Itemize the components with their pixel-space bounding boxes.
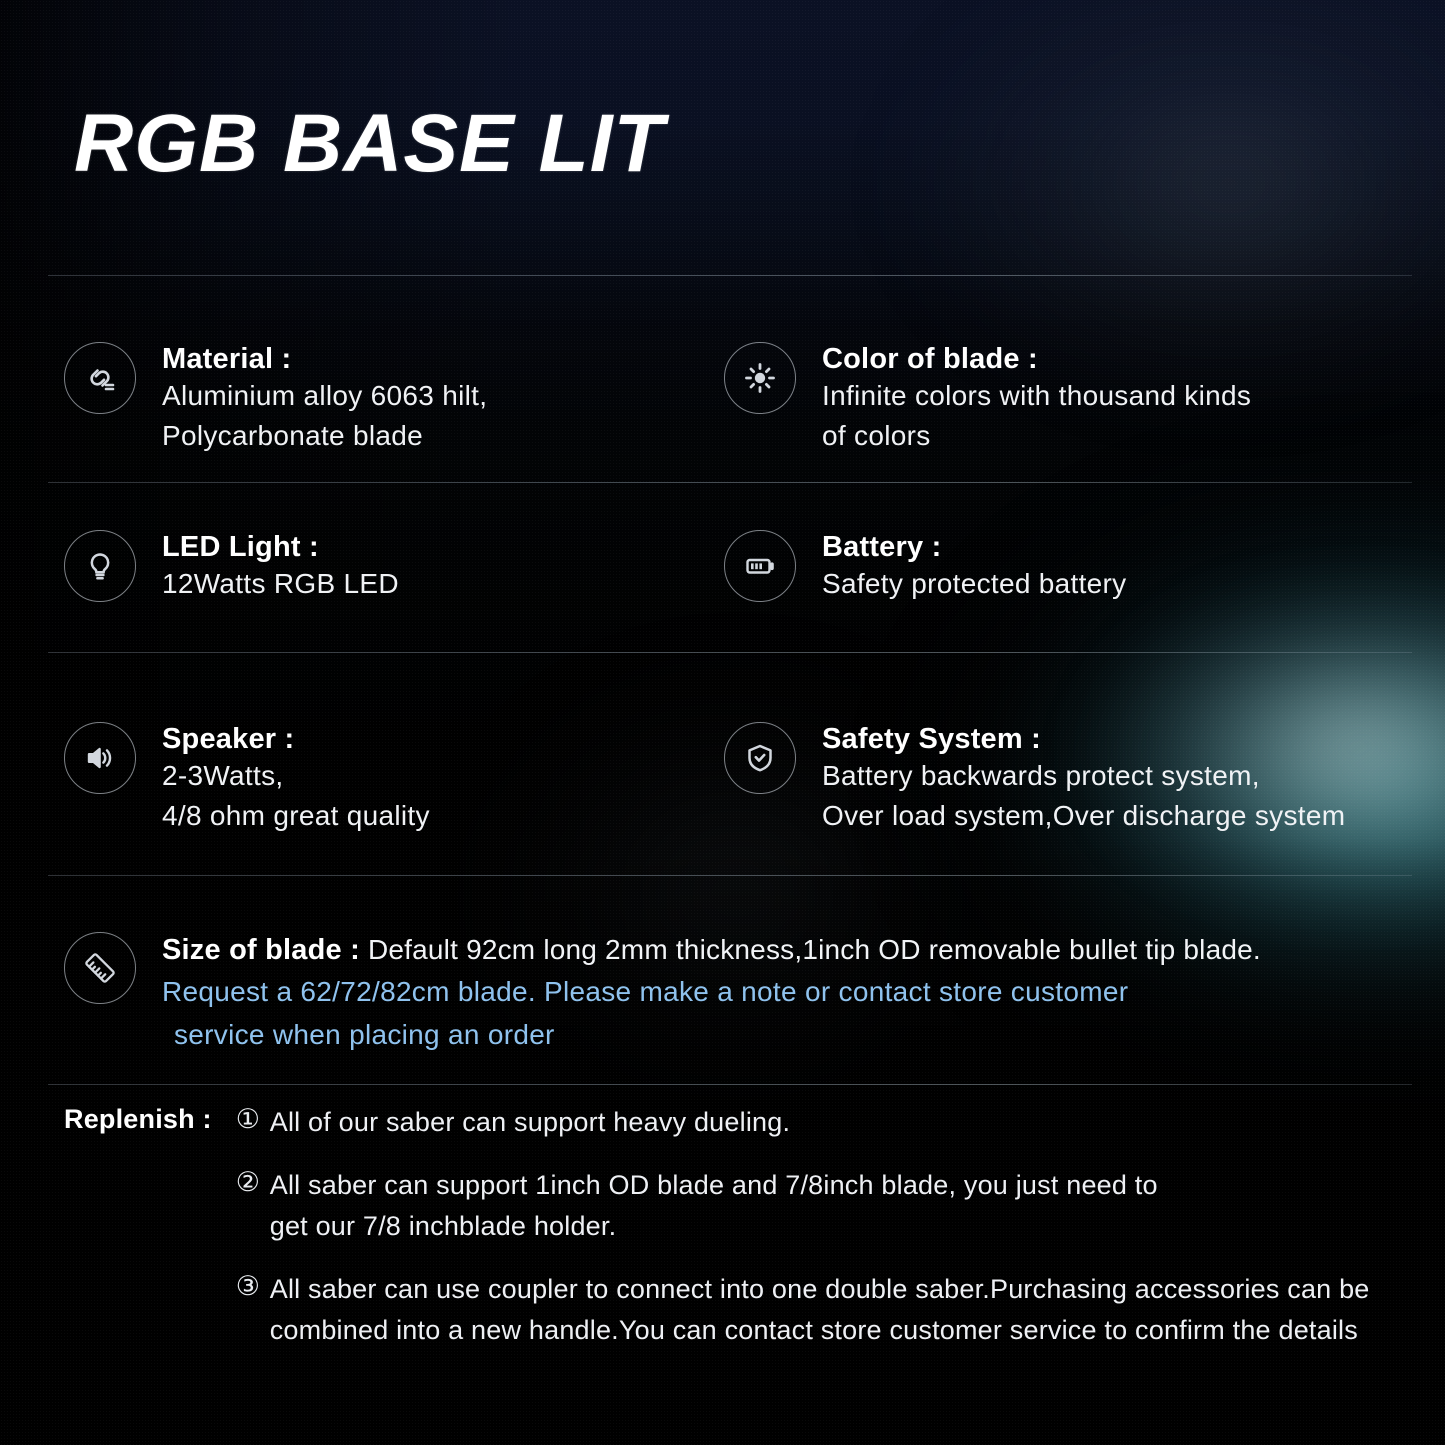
- list-item-line: All of our saber can support heavy dueli…: [270, 1102, 790, 1143]
- replenish-row: Replenish : ① All of our saber can suppo…: [64, 1102, 1424, 1351]
- list-item-body: All of our saber can support heavy dueli…: [270, 1102, 790, 1143]
- spec-item-material: Material : Aluminium alloy 6063 hilt, Po…: [64, 342, 487, 456]
- spec-value-line: Aluminium alloy 6063 hilt,: [162, 376, 487, 416]
- list-item-number: ③: [236, 1269, 270, 1304]
- size-of-blade-label: Size of blade :: [162, 934, 360, 966]
- spec-label: Speaker :: [162, 722, 430, 756]
- spec-body: Battery : Safety protected battery: [796, 530, 1126, 604]
- list-item-line: All saber can support 1inch OD blade and…: [270, 1165, 1158, 1206]
- spec-item-color-of-blade: Color of blade : Infinite colors with th…: [724, 342, 1251, 456]
- list-item-line: All saber can use coupler to connect int…: [270, 1269, 1370, 1310]
- spec-value-line: 12Watts RGB LED: [162, 564, 399, 604]
- content-layer: RGB BASE LIT Material : Aluminium alloy …: [0, 0, 1445, 1445]
- list-item-number: ①: [236, 1102, 270, 1137]
- replenish-section: Replenish : ① All of our saber can suppo…: [64, 1102, 1424, 1351]
- replenish-label: Replenish :: [64, 1102, 212, 1135]
- lightbulb-icon: [64, 530, 136, 602]
- battery-icon: [724, 530, 796, 602]
- spec-label: Safety System :: [822, 722, 1345, 756]
- spec-value-line: Battery backwards protect system,: [822, 756, 1345, 796]
- list-item-body: All saber can use coupler to connect int…: [270, 1269, 1370, 1351]
- spec-item-safety-system: Safety System : Battery backwards protec…: [724, 722, 1345, 836]
- spec-item-speaker: Speaker : 2-3Watts, 4/8 ohm great qualit…: [64, 722, 430, 836]
- list-item-line: get our 7/8 inchblade holder.: [270, 1206, 1158, 1247]
- list-item: ② All saber can support 1inch OD blade a…: [236, 1165, 1370, 1247]
- divider-3: [48, 652, 1412, 653]
- spec-label: Battery :: [822, 530, 1126, 564]
- spec-value-line: Over load system,Over discharge system: [822, 796, 1345, 836]
- divider-5: [48, 1084, 1412, 1085]
- spec-body: LED Light : 12Watts RGB LED: [136, 530, 399, 604]
- brightness-sun-icon: [724, 342, 796, 414]
- divider-4: [48, 875, 1412, 876]
- spec-body: Material : Aluminium alloy 6063 hilt, Po…: [136, 342, 487, 456]
- size-of-blade-value: Default 92cm long 2mm thickness,1inch OD…: [368, 934, 1261, 965]
- list-item-body: All saber can support 1inch OD blade and…: [270, 1165, 1158, 1247]
- size-of-blade-body: Size of blade : Default 92cm long 2mm th…: [136, 932, 1261, 1056]
- ruler-icon: [64, 932, 136, 1004]
- divider-2: [48, 482, 1412, 483]
- spec-item-led-light: LED Light : 12Watts RGB LED: [64, 530, 399, 604]
- spec-item-size-of-blade: Size of blade : Default 92cm long 2mm th…: [64, 932, 1261, 1056]
- size-of-blade-main: Size of blade : Default 92cm long 2mm th…: [162, 932, 1261, 970]
- spec-item-battery: Battery : Safety protected battery: [724, 530, 1126, 604]
- list-item-line: combined into a new handle.You can conta…: [270, 1310, 1370, 1351]
- product-spec-banner: RGB BASE LIT Material : Aluminium alloy …: [0, 0, 1445, 1445]
- spec-value-line: of colors: [822, 416, 1251, 456]
- size-of-blade-note-line-2: service when placing an order: [162, 1013, 1261, 1056]
- spec-body: Speaker : 2-3Watts, 4/8 ohm great qualit…: [136, 722, 430, 836]
- list-item-number: ②: [236, 1165, 270, 1200]
- spec-body: Color of blade : Infinite colors with th…: [796, 342, 1251, 456]
- link-chain-icon: [64, 342, 136, 414]
- spec-value-line: 2-3Watts,: [162, 756, 430, 796]
- spec-body: Safety System : Battery backwards protec…: [796, 722, 1345, 836]
- page-title: RGB BASE LIT: [74, 97, 665, 191]
- list-item: ① All of our saber can support heavy due…: [236, 1102, 1370, 1143]
- replenish-items: ① All of our saber can support heavy due…: [212, 1102, 1370, 1351]
- spec-value-line: Polycarbonate blade: [162, 416, 487, 456]
- list-item: ③ All saber can use coupler to connect i…: [236, 1269, 1370, 1351]
- spec-value-line: Infinite colors with thousand kinds: [822, 376, 1251, 416]
- spec-label: Color of blade :: [822, 342, 1251, 376]
- divider-1: [48, 275, 1412, 276]
- spec-label: Material :: [162, 342, 487, 376]
- speaker-volume-icon: [64, 722, 136, 794]
- spec-value-line: Safety protected battery: [822, 564, 1126, 604]
- shield-check-icon: [724, 722, 796, 794]
- spec-label: LED Light :: [162, 530, 399, 564]
- size-of-blade-note-line-1: Request a 62/72/82cm blade. Please make …: [162, 970, 1261, 1013]
- spec-value-line: 4/8 ohm great quality: [162, 796, 430, 836]
